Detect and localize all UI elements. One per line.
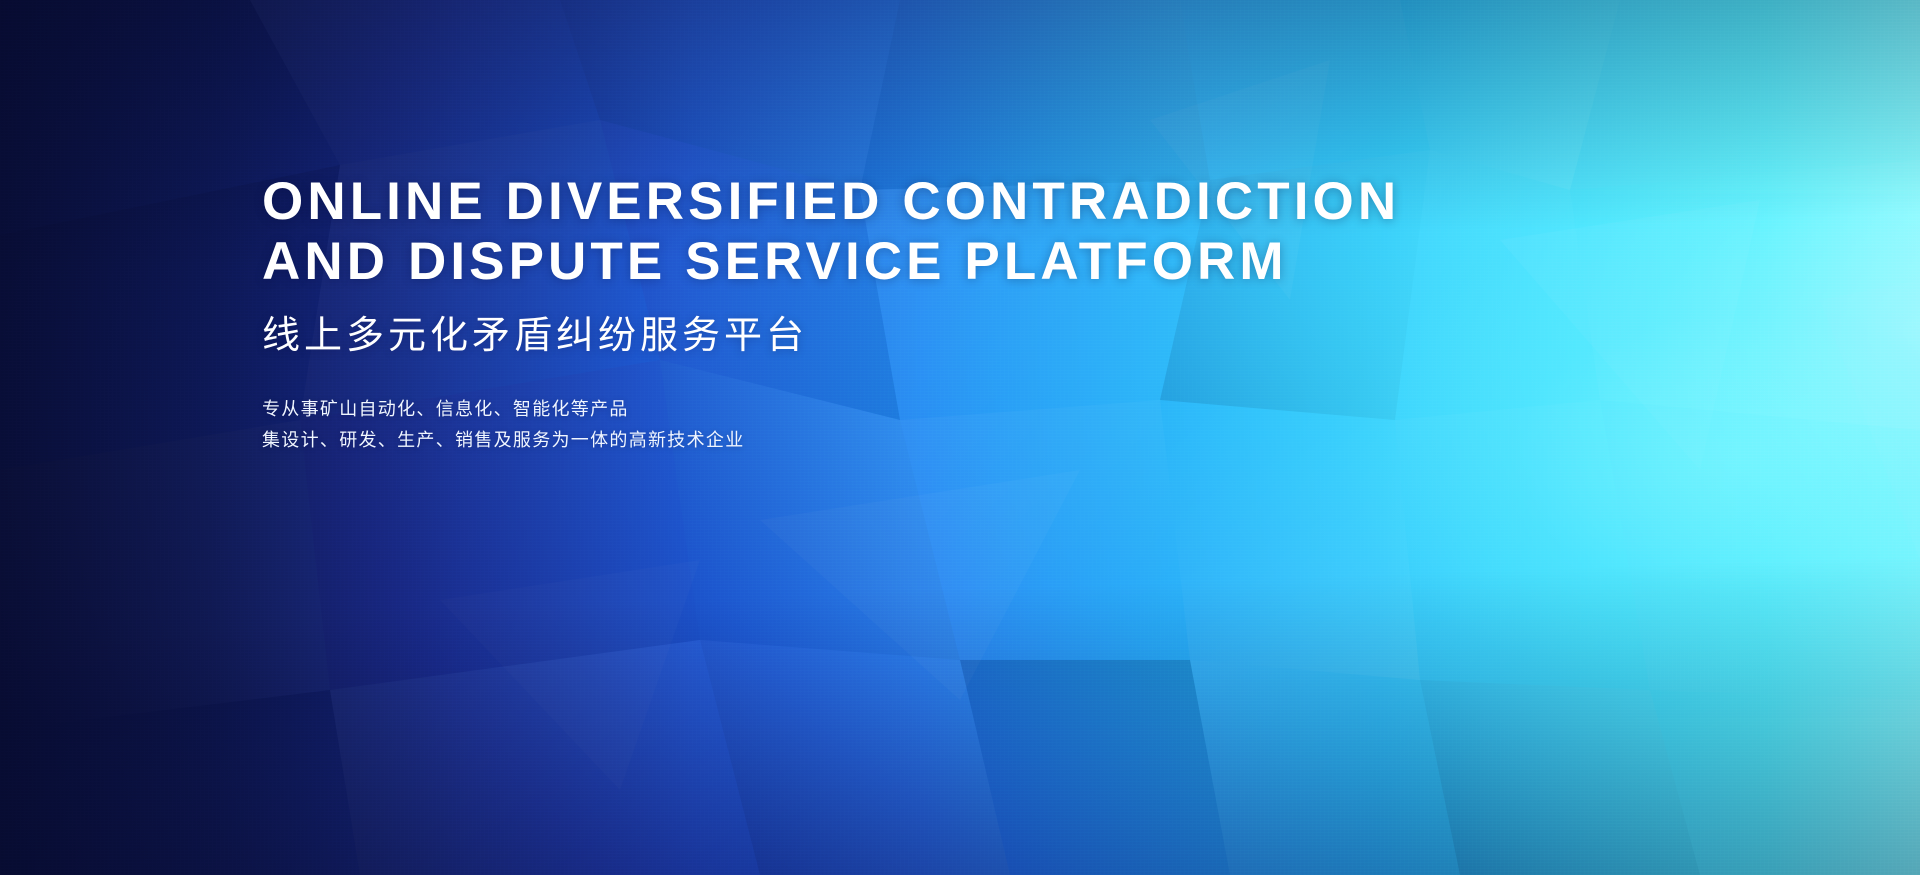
hero-banner: ONLINE DIVERSIFIED CONTRADICTION AND DIS… (0, 0, 1920, 875)
page-title-english: ONLINE DIVERSIFIED CONTRADICTION AND DIS… (262, 172, 1522, 292)
tagline-line-2: 集设计、研发、生产、销售及服务为一体的高新技术企业 (262, 425, 1522, 456)
tagline-line-1: 专从事矿山自动化、信息化、智能化等产品 (262, 394, 1522, 425)
page-subtitle-chinese: 线上多元化矛盾纠纷服务平台 (262, 313, 1522, 359)
tagline-block: 专从事矿山自动化、信息化、智能化等产品 集设计、研发、生产、销售及服务为一体的高… (262, 394, 1522, 456)
hero-text-block: ONLINE DIVERSIFIED CONTRADICTION AND DIS… (262, 172, 1522, 456)
